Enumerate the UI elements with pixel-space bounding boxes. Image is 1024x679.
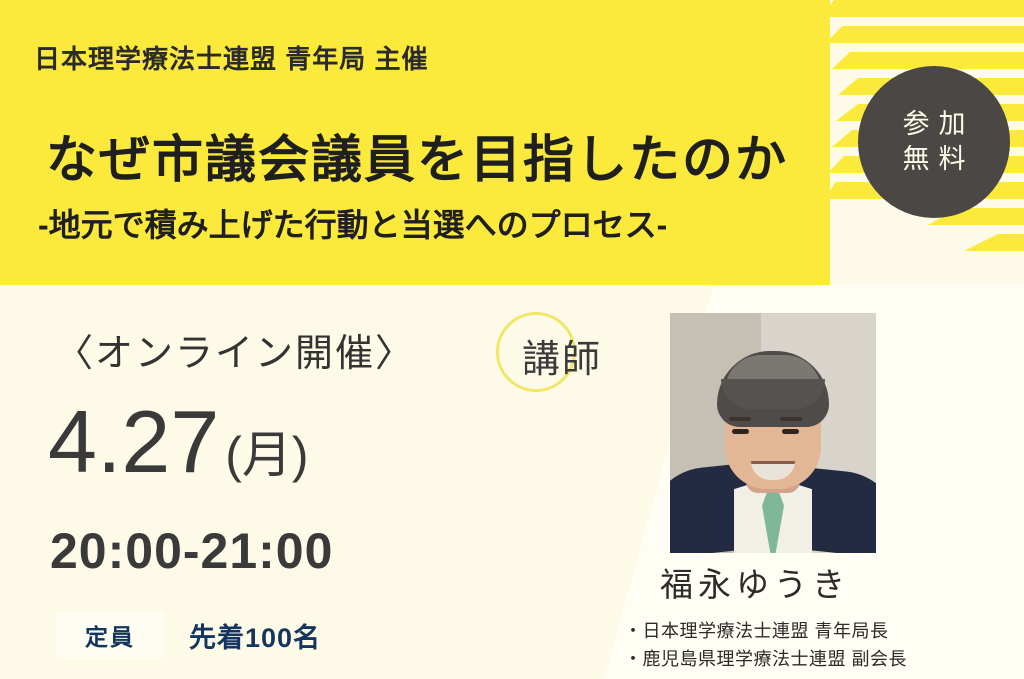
capacity-row: 定員 先着100名	[55, 612, 321, 658]
page-title: なぜ市議会議員を目指したのか	[46, 118, 788, 192]
speaker-credentials: ・日本理学療法士連盟 青年局長 ・鹿児島県理学療法士連盟 副会長	[624, 618, 907, 674]
badge-line-1: 参加	[894, 111, 975, 138]
stripe	[820, 0, 1024, 17]
stripe	[826, 26, 1024, 43]
event-day-of-week: (月)	[225, 430, 308, 480]
credential-line: ・鹿児島県理学療法士連盟 副会長	[624, 646, 907, 674]
organizer-text: 日本理学療法士連盟 青年局 主催	[34, 39, 428, 76]
event-date-row: 4.27 (月)	[48, 398, 309, 486]
portrait-fringe	[721, 379, 825, 409]
credential-line: ・日本理学療法士連盟 青年局長	[624, 618, 907, 646]
portrait-eye-left	[732, 429, 749, 434]
instructor-section-label: 講師	[522, 328, 602, 383]
portrait-eyebrow-left	[729, 417, 751, 421]
free-participation-badge: 参加 無料	[858, 66, 1010, 218]
event-time: 20:00-21:00	[50, 522, 333, 580]
event-format-label: 〈オンライン開催〉	[55, 322, 415, 377]
portrait-eye-right	[782, 429, 799, 434]
event-date: 4.27	[48, 398, 219, 486]
speaker-name: 福永ゆうき	[660, 558, 850, 606]
event-flyer: 日本理学療法士連盟 青年局 主催 なぜ市議会議員を目指したのか -地元で積み上げ…	[0, 0, 1024, 679]
capacity-label: 定員	[55, 612, 165, 658]
page-subtitle: -地元で積み上げた行動と当選へのプロセス-	[38, 200, 667, 246]
speaker-portrait-photo	[670, 313, 876, 553]
capacity-value: 先着100名	[189, 616, 321, 655]
stripe	[964, 234, 1024, 251]
badge-line-2: 無料	[894, 146, 975, 173]
portrait-eyebrow-right	[780, 417, 802, 421]
